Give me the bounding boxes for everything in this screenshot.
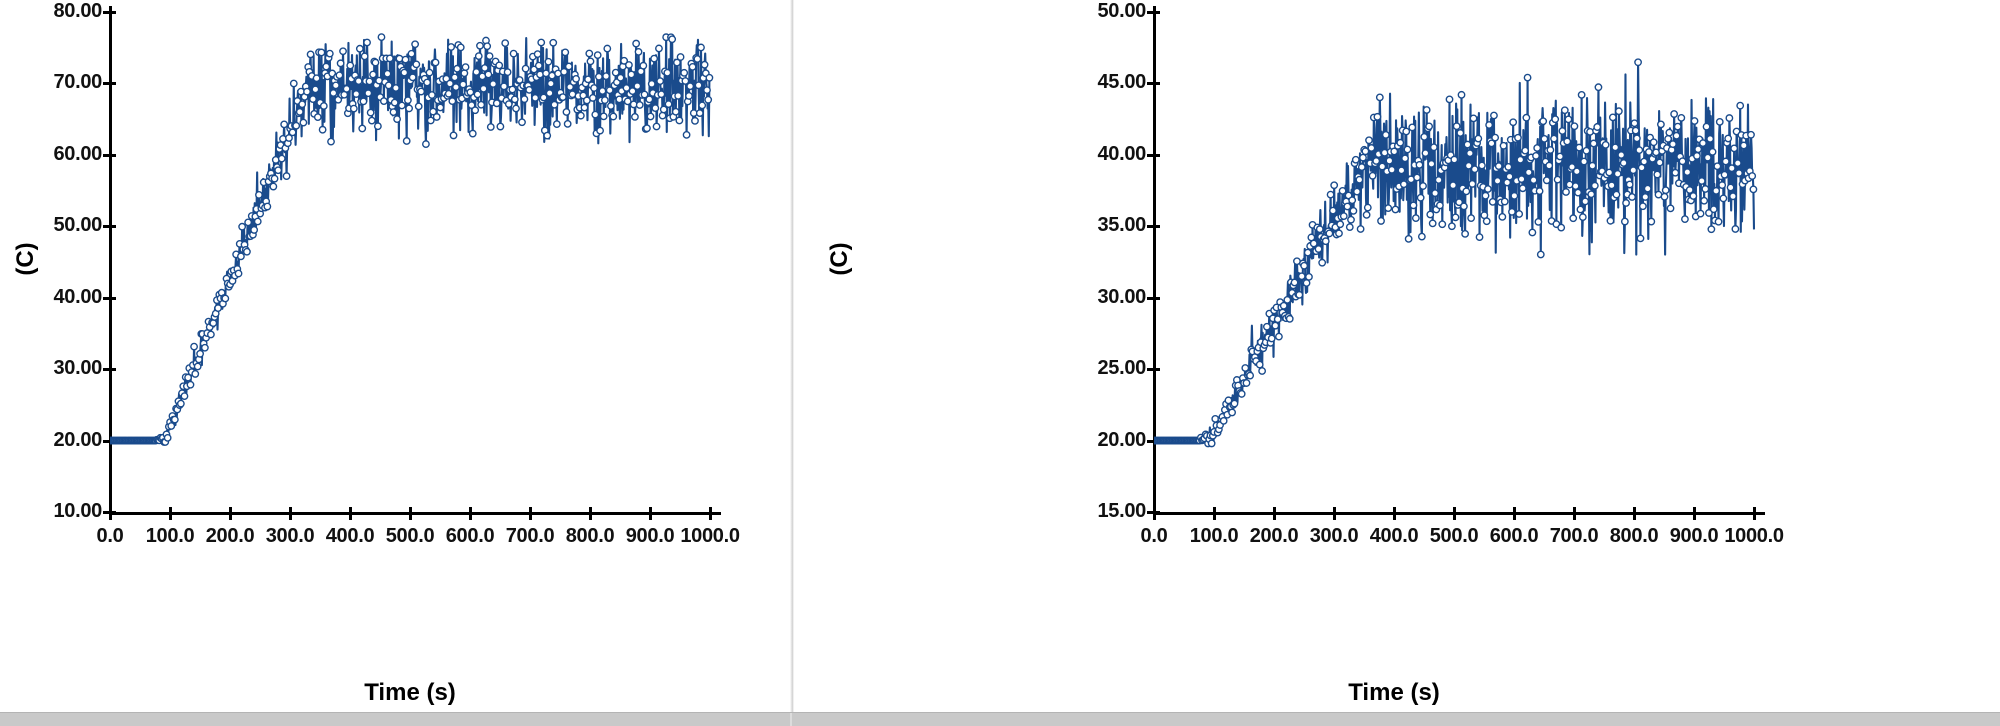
left-chart-panel: (C) Time (s) 10.0020.0030.0040.0050.0060… — [0, 0, 790, 726]
right-chart: (C) Time (s) 15.0020.0025.0030.0035.0040… — [794, 0, 2000, 713]
right-chart-x-axis-title: Time (s) — [1044, 679, 1744, 707]
left-chart-x-axis-title: Time (s) — [60, 679, 760, 707]
left-chart-series-plot — [0, 0, 750, 532]
figure-page: (C) Time (s) 10.0020.0030.0040.0050.0060… — [0, 0, 2000, 726]
left-chart: (C) Time (s) 10.0020.0030.0040.0050.0060… — [0, 0, 790, 713]
footer-seam — [790, 713, 792, 726]
window-footer-bar — [0, 712, 2000, 726]
right-chart-series-plot — [794, 0, 1794, 532]
right-chart-panel: (C) Time (s) 15.0020.0025.0030.0035.0040… — [794, 0, 2000, 726]
